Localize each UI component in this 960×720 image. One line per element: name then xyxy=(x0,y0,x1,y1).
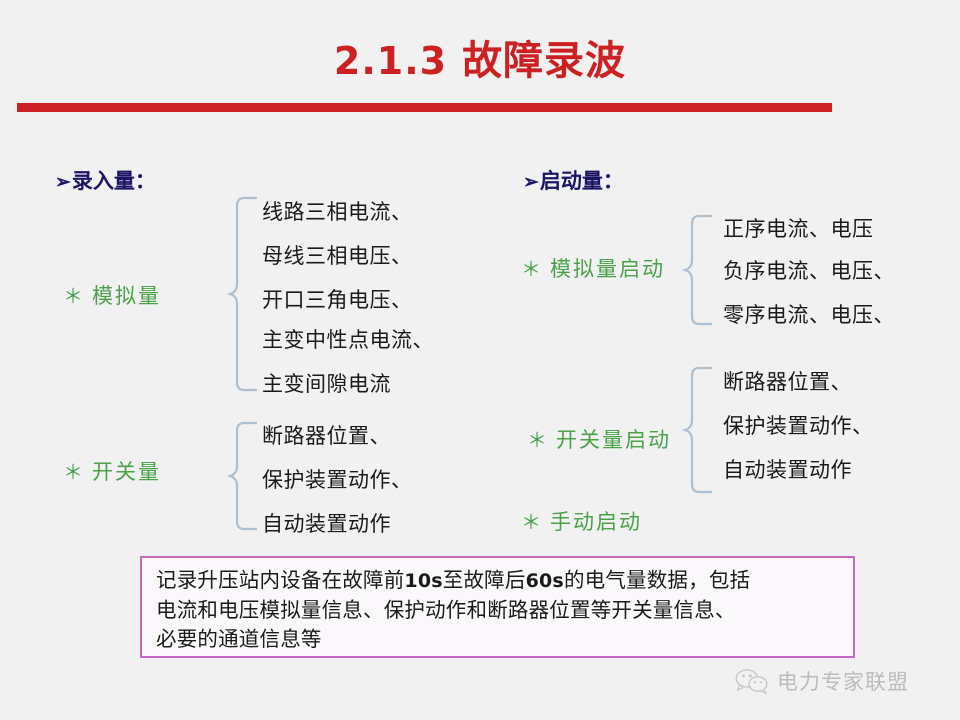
list-item: 保护装置动作、 xyxy=(262,467,413,493)
note-text: 记录升压站内设备在故障前10s至故障后60s的电气量数据，包括 电流和电压模拟量… xyxy=(156,566,846,654)
right-column-heading: ➢启动量： xyxy=(523,168,624,195)
watermark-text: 电力专家联盟 xyxy=(777,666,909,696)
brace-digital-input xyxy=(228,421,258,531)
list-item: 正序电流、电压 xyxy=(723,216,874,242)
title-number: 2.1.3 xyxy=(334,39,447,83)
star-bullet-icon: ＊ xyxy=(521,510,543,534)
page-title: 2.1.3 故障录波 xyxy=(0,36,960,86)
arrow-bullet-icon: ➢ xyxy=(55,171,71,193)
list-item: 主变中性点电流、 xyxy=(262,327,434,353)
star-bullet-icon: ＊ xyxy=(527,428,549,452)
left-heading-label: 录入量： xyxy=(72,168,156,193)
list-item: 断路器位置、 xyxy=(262,423,391,449)
note-line1-part1: 记录升压站内设备在故障前 xyxy=(156,568,404,592)
wechat-icon xyxy=(735,668,769,694)
star-bullet-icon: ＊ xyxy=(63,284,85,308)
category-label: 模拟量启动 xyxy=(550,257,665,281)
category-digital-trigger: ＊开关量启动 xyxy=(527,427,671,453)
list-item: 零序电流、电压、 xyxy=(723,302,895,328)
star-bullet-icon: ＊ xyxy=(63,460,85,484)
category-digital-input: ＊开关量 xyxy=(63,459,161,485)
note-line3: 必要的通道信息等 xyxy=(156,627,322,651)
right-heading-label: 启动量： xyxy=(540,168,624,193)
note-line2: 电流和电压模拟量信息、保护动作和断路器位置等开关量信息、 xyxy=(156,598,736,622)
note-time-after: 60s xyxy=(526,570,564,592)
left-column-heading: ➢录入量： xyxy=(55,168,156,195)
note-line1-part3: 的电气量数据，包括 xyxy=(564,568,750,592)
list-item: 断路器位置、 xyxy=(723,369,852,395)
category-analog-trigger: ＊模拟量启动 xyxy=(521,256,665,282)
title-underline-rule xyxy=(17,103,832,112)
list-item: 开口三角电压、 xyxy=(262,287,413,313)
note-line1-part2: 至故障后 xyxy=(443,568,526,592)
category-manual-trigger: ＊手动启动 xyxy=(521,509,642,535)
title-text: 故障录波 xyxy=(462,37,626,84)
category-analog-input: ＊模拟量 xyxy=(63,283,161,309)
list-item: 保护装置动作、 xyxy=(723,413,874,439)
arrow-bullet-icon: ➢ xyxy=(523,171,539,193)
watermark: 电力专家联盟 xyxy=(735,666,909,696)
brace-analog-input xyxy=(228,196,258,392)
category-label: 手动启动 xyxy=(550,510,642,534)
list-item: 自动装置动作 xyxy=(262,511,391,537)
brace-analog-trigger xyxy=(683,214,713,326)
list-item: 主变间隙电流 xyxy=(262,371,391,397)
category-label: 开关量启动 xyxy=(556,428,671,452)
category-label: 模拟量 xyxy=(92,284,161,308)
star-bullet-icon: ＊ xyxy=(521,257,543,281)
note-time-before: 10s xyxy=(404,570,442,592)
brace-digital-trigger xyxy=(683,366,713,494)
list-item: 负序电流、电压、 xyxy=(723,258,895,284)
category-label: 开关量 xyxy=(92,460,161,484)
list-item: 母线三相电压、 xyxy=(262,243,413,269)
list-item: 线路三相电流、 xyxy=(262,199,413,225)
list-item: 自动装置动作 xyxy=(723,457,852,483)
slide-canvas: 2.1.3 故障录波 ➢录入量： ＊模拟量 线路三相电流、 母线三相电压、 开口… xyxy=(0,0,960,720)
